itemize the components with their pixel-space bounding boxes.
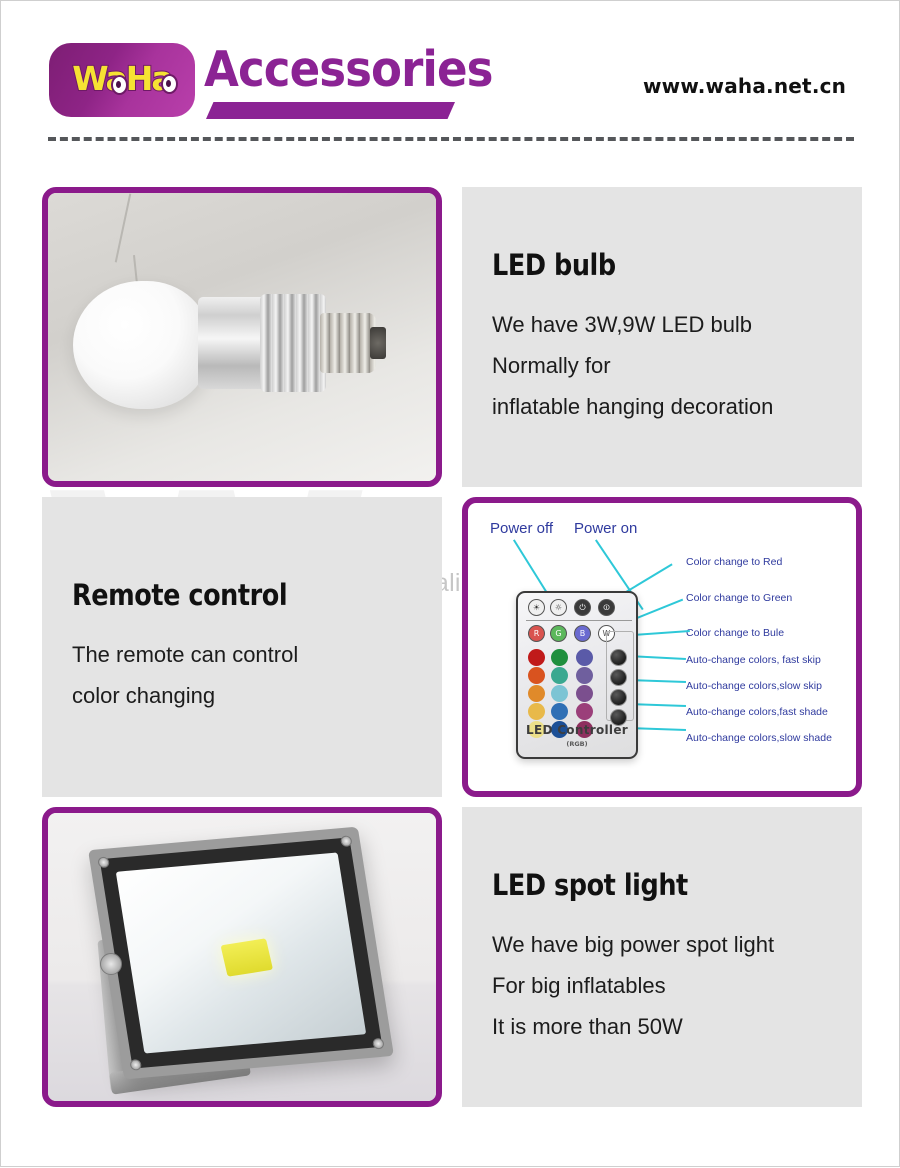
label-slow-skip: Auto-change colors,slow skip bbox=[686, 680, 822, 692]
catalog-page: W a Ha waha.en.alibaba.com WaHa Accessor… bbox=[0, 0, 900, 1167]
power-on-button[interactable]: ⏼ bbox=[598, 599, 615, 616]
bulb-globe bbox=[73, 281, 210, 409]
led-bulb-heading: LED bulb bbox=[492, 248, 818, 282]
label-color-green: Color change to Green bbox=[686, 592, 792, 604]
site-url: www.waha.net.cn bbox=[643, 74, 846, 98]
led-spot-light-line: It is more than 50W bbox=[492, 1006, 862, 1047]
remote-control-heading: Remote control bbox=[72, 578, 398, 612]
header-divider bbox=[48, 137, 854, 141]
fast-shade-button[interactable] bbox=[610, 689, 627, 706]
led-spot-light-text-panel: LED spot light We have big power spot li… bbox=[462, 807, 862, 1107]
rgb-green-button[interactable]: G bbox=[550, 625, 567, 642]
remote-control-text-panel: Remote control The remote can control co… bbox=[42, 497, 442, 797]
led-bulb-text-panel: LED bulb We have 3W,9W LED bulb Normally… bbox=[462, 187, 862, 487]
remote-brand-label: LED Controller bbox=[518, 723, 636, 737]
remote-control-line: The remote can control bbox=[72, 634, 442, 675]
spot-led-chip bbox=[221, 938, 274, 977]
led-bulb-photo bbox=[42, 187, 442, 487]
page-header: WaHa Accessories www.waha.net.cn bbox=[1, 1, 900, 151]
label-fast-shade: Auto-change colors,fast shade bbox=[686, 706, 828, 718]
remote-diagram: Power off Power on Color change to Red C… bbox=[462, 497, 862, 797]
label-color-blue: Color change to Bule bbox=[686, 627, 784, 639]
color-swatch[interactable] bbox=[576, 685, 593, 702]
remote-brand-sublabel: (RGB) bbox=[518, 740, 636, 748]
label-power-on: Power on bbox=[574, 520, 637, 537]
rgb-red-button[interactable]: R bbox=[528, 625, 545, 642]
led-spot-light-photo bbox=[42, 807, 442, 1107]
slow-skip-button[interactable] bbox=[610, 669, 627, 686]
bulb-fins bbox=[260, 294, 326, 392]
color-swatch[interactable] bbox=[576, 649, 593, 666]
label-color-red: Color change to Red bbox=[686, 556, 782, 568]
remote-device: ☀ ☼ ⏻ ⏼ R G B W bbox=[516, 591, 638, 759]
logo-eye-icon bbox=[111, 75, 128, 95]
color-swatch[interactable] bbox=[528, 649, 545, 666]
color-swatch[interactable] bbox=[551, 685, 568, 702]
spot-pivot-bolt bbox=[100, 953, 122, 975]
brightness-down-button[interactable]: ☼ bbox=[550, 599, 567, 616]
content-grid: LED bulb We have 3W,9W LED bulb Normally… bbox=[1, 1, 900, 1168]
led-bulb-line: inflatable hanging decoration bbox=[492, 386, 862, 427]
remote-control-line: color changing bbox=[72, 675, 442, 716]
spot-housing bbox=[88, 827, 394, 1080]
color-swatch[interactable] bbox=[576, 703, 593, 720]
label-fast-skip: Auto-change colors, fast skip bbox=[686, 654, 821, 666]
brightness-up-button[interactable]: ☀ bbox=[528, 599, 545, 616]
color-swatch[interactable] bbox=[528, 685, 545, 702]
spot-lens bbox=[116, 852, 366, 1053]
led-bulb-line: Normally for bbox=[492, 345, 862, 386]
label-power-off: Power off bbox=[490, 520, 553, 537]
led-spot-light-heading: LED spot light bbox=[492, 868, 818, 902]
led-spot-light-line: We have big power spot light bbox=[492, 924, 862, 965]
title-underline-bar bbox=[206, 102, 455, 119]
color-swatch[interactable] bbox=[551, 703, 568, 720]
color-swatch[interactable] bbox=[528, 667, 545, 684]
color-swatch[interactable] bbox=[551, 667, 568, 684]
color-swatch[interactable] bbox=[576, 667, 593, 684]
rgb-blue-button[interactable]: B bbox=[574, 625, 591, 642]
color-swatch[interactable] bbox=[528, 703, 545, 720]
led-spot-light-line: For big inflatables bbox=[492, 965, 862, 1006]
page-title: Accessories bbox=[204, 42, 493, 98]
label-slow-shade: Auto-change colors,slow shade bbox=[686, 732, 832, 744]
bulb-contact-tip bbox=[370, 327, 386, 359]
led-bulb-line: We have 3W,9W LED bulb bbox=[492, 304, 862, 345]
color-swatch[interactable] bbox=[551, 649, 568, 666]
logo-eye-icon bbox=[161, 74, 178, 94]
bulb-screw-base bbox=[320, 313, 376, 373]
power-off-button[interactable]: ⏻ bbox=[574, 599, 591, 616]
waha-logo: WaHa bbox=[49, 43, 195, 117]
fast-skip-button[interactable] bbox=[610, 649, 627, 666]
